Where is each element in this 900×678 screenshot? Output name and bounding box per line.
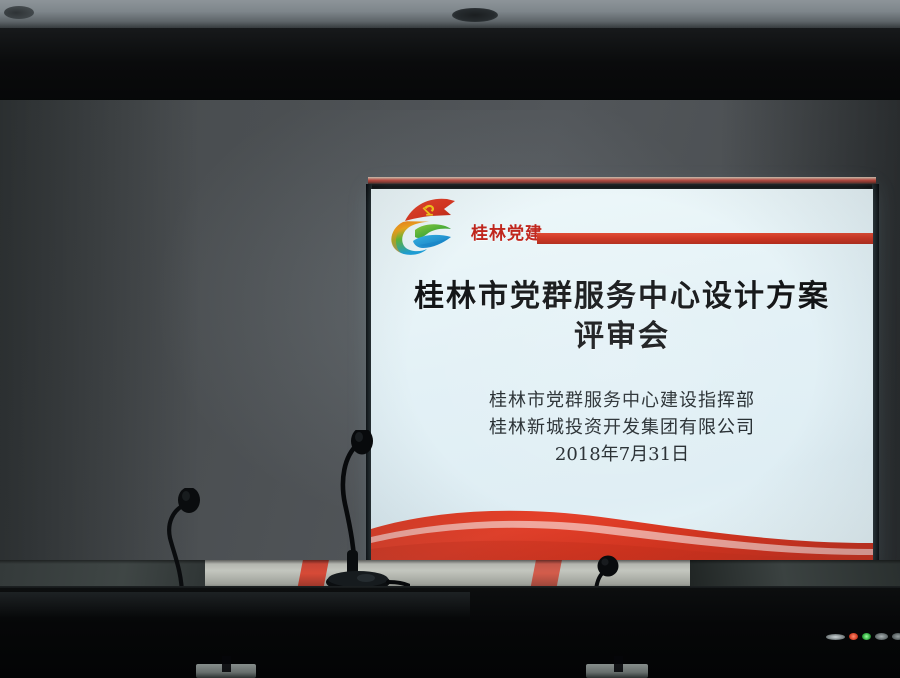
- slide-subtitle: 桂林市党群服务中心建设指挥部 桂林新城投资开发集团有限公司 2018年7月31日: [371, 387, 873, 468]
- slide-date: 2018年7月31日: [371, 441, 873, 468]
- aux-indicator-2-icon: [892, 633, 900, 640]
- mic-left: [148, 488, 218, 598]
- status-indicator-icon: [862, 633, 871, 640]
- power-indicator-icon: [826, 634, 845, 640]
- slide-title: 桂林市党群服务中心设计方案 评审会: [371, 277, 873, 357]
- conference-room-photo: 桂林党建 桂林市党群服务中心设计方案 评审会 桂林市党群服务中心建设指挥部 桂林…: [0, 0, 900, 678]
- guilin-party-building-logo-icon: [385, 195, 485, 257]
- screen-edge-right: [872, 184, 879, 574]
- record-indicator-icon: [849, 633, 858, 640]
- projection-screen: 桂林党建 桂林市党群服务中心设计方案 评审会 桂林市党群服务中心建设指挥部 桂林…: [371, 189, 873, 571]
- title-line-2: 评审会: [371, 317, 873, 357]
- ceiling-fixture-left: [4, 6, 34, 19]
- table-object-right-notch: [614, 656, 623, 672]
- ceiling-recessed-light: [452, 8, 498, 22]
- ceiling: [0, 0, 900, 30]
- mic-center: [300, 430, 410, 600]
- brand-text: 桂林党建: [471, 219, 543, 244]
- slide-header-logo: 桂林党建: [385, 195, 555, 257]
- presentation-slide: 桂林党建 桂林市党群服务中心设计方案 评审会 桂林市党群服务中心建设指挥部 桂林…: [371, 189, 873, 571]
- projection-screen-frame: 桂林党建 桂林市党群服务中心设计方案 评审会 桂林市党群服务中心建设指挥部 桂林…: [183, 88, 695, 486]
- equipment-indicator-leds: [826, 632, 900, 641]
- projection-overspill: [368, 177, 876, 184]
- table-object-left-notch: [222, 656, 231, 672]
- aux-indicator-1-icon: [875, 633, 888, 640]
- podium-sheen: [0, 592, 470, 618]
- title-line-1: 桂林市党群服务中心设计方案: [371, 277, 873, 317]
- header-accent-bar: [537, 233, 873, 244]
- trim-top-shadow: [0, 560, 900, 564]
- subtitle-line-1: 桂林市党群服务中心建设指挥部: [371, 387, 873, 414]
- subtitle-line-2: 桂林新城投资开发集团有限公司: [371, 414, 873, 441]
